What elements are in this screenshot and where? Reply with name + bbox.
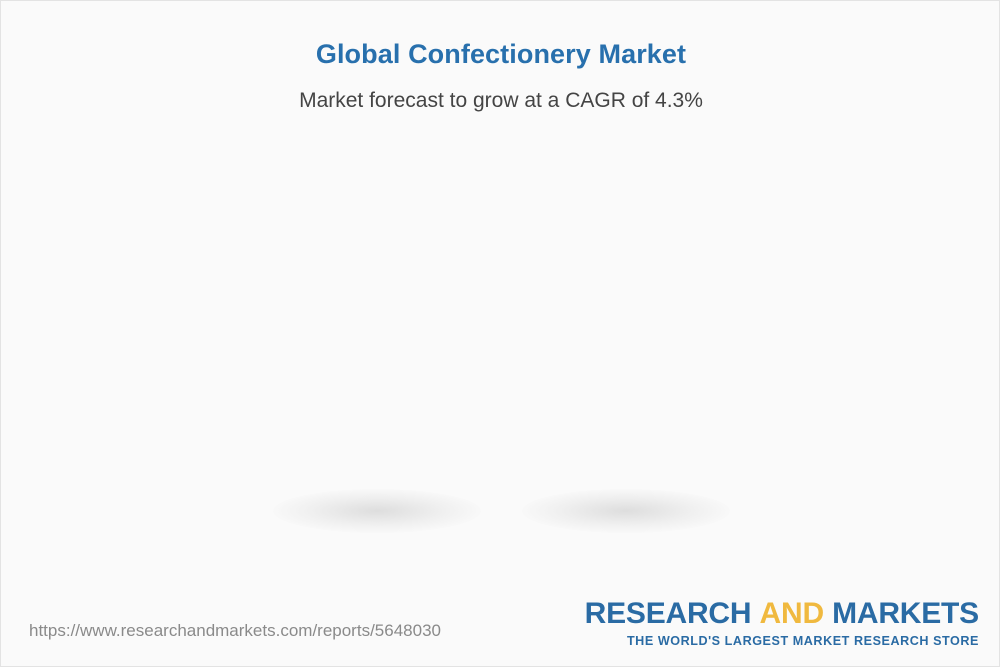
- source-url[interactable]: https://www.researchandmarkets.com/repor…: [29, 621, 441, 641]
- plot-area: USD 309.98 Billion 2022 USD 401.54 Billi…: [1, 1, 1000, 601]
- research-and-markets-logo[interactable]: RESEARCH AND MARKETS THE WORLD'S LARGEST…: [585, 599, 979, 648]
- logo-word-markets: MARKETS: [832, 597, 979, 630]
- bar-shadow-2022: [273, 489, 481, 533]
- chart-canvas: Global Confectionery Market Market forec…: [0, 0, 1000, 667]
- bar-shadow-2028: [522, 489, 730, 533]
- logo-word-and: AND: [760, 597, 824, 630]
- logo-word-research: RESEARCH: [585, 597, 752, 630]
- logo-wordmark: RESEARCH AND MARKETS: [585, 599, 979, 629]
- logo-tagline: THE WORLD'S LARGEST MARKET RESEARCH STOR…: [585, 635, 979, 648]
